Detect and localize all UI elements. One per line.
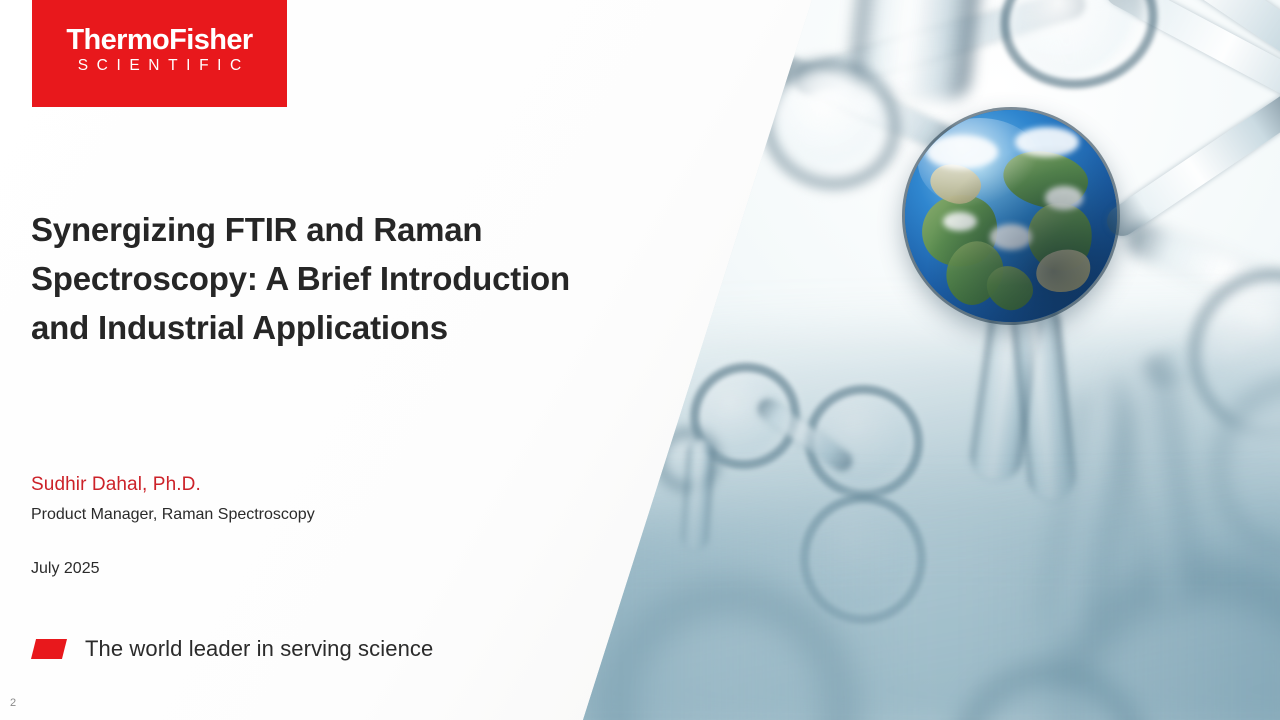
presenter-name: Sudhir Dahal, Ph.D. (31, 474, 201, 497)
presentation-date: July 2025 (31, 559, 100, 578)
slide-title: Synergizing FTIR and Raman Spectroscopy:… (31, 205, 571, 352)
presenter-role: Product Manager, Raman Spectroscopy (31, 505, 315, 524)
logo-subwordmark: SCIENTIFIC (32, 58, 287, 74)
logo-wordmark: ThermoFisher (32, 26, 287, 55)
page-number: 2 (10, 697, 16, 709)
globe-shading (905, 110, 1117, 322)
thermofisher-logo: ThermoFisher SCIENTIFIC (32, 0, 287, 107)
title-slide-artwork (0, 0, 1280, 720)
earth-globe (905, 110, 1117, 322)
tagline: The world leader in serving science (31, 636, 433, 662)
tagline-text: The world leader in serving science (85, 636, 433, 662)
parallelogram-mark-icon (31, 639, 67, 659)
artwork-haze (560, 520, 1280, 720)
presentation-slide: ThermoFisher SCIENTIFIC Synergizing FTIR… (0, 0, 1280, 720)
